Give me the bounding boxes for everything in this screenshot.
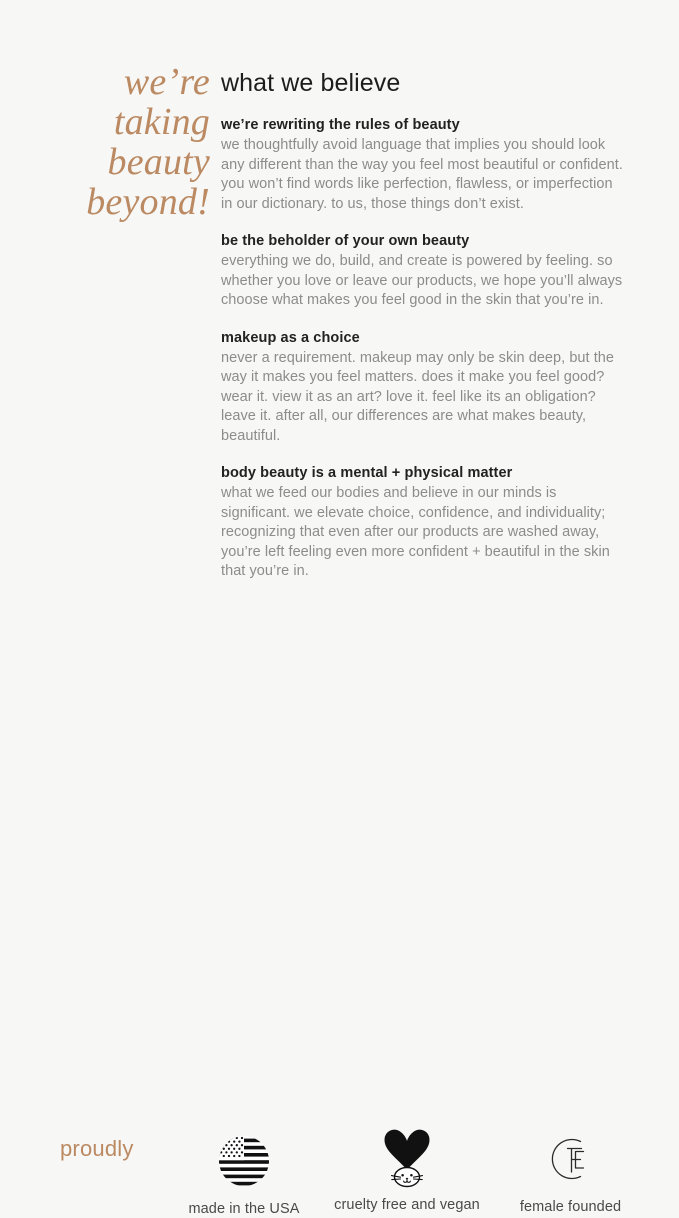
belief-body: we thoughtfully avoid language that impl… [221,136,626,214]
belief-body: never a requirement. makeup may only be … [221,349,626,447]
badge-strip: proudly [0,560,679,679]
bunny-heart-ears-icon [325,1126,489,1188]
badge-label: female founded [505,1198,636,1216]
page-title: what we believe [221,68,626,98]
belief-block-rewriting-rules: we’re rewriting the rules of beauty we t… [221,116,626,214]
belief-heading: makeup as a choice [221,329,626,348]
belief-heading: body beauty is a mental + physical matte… [221,464,626,483]
headline-line-1: we’re [40,62,210,102]
headline-line-2: taking [40,102,210,142]
headline-line-3: beauty [40,142,210,182]
belief-body: everything we do, build, and create is p… [221,252,626,311]
usa-flag-circle-icon [178,1130,310,1192]
brand-headline: we’re taking beauty beyond! [40,62,210,222]
belief-heading: we’re rewriting the rules of beauty [221,116,626,135]
badge-made-in-usa: made in the USA [178,1130,310,1218]
proudly-label: proudly [60,1136,134,1162]
belief-heading: be the beholder of your own beauty [221,232,626,251]
beliefs-column: what we believe we’re rewriting the rule… [221,68,626,582]
badge-cruelty-free: cruelty free and vegan [325,1126,489,1214]
headline-line-4: beyond! [40,182,210,222]
badge-label: cruelty free and vegan [325,1196,489,1214]
fc-monogram-circle-icon [505,1128,636,1190]
brand-values-panel: we’re taking beauty beyond! what we beli… [0,0,679,679]
badge-female-founded: female founded [505,1128,636,1216]
badge-label: made in the USA [178,1200,310,1218]
content-area: we’re taking beauty beyond! what we beli… [0,0,679,556]
belief-block-makeup-choice: makeup as a choice never a requirement. … [221,329,626,447]
belief-block-beholder: be the beholder of your own beauty every… [221,232,626,311]
